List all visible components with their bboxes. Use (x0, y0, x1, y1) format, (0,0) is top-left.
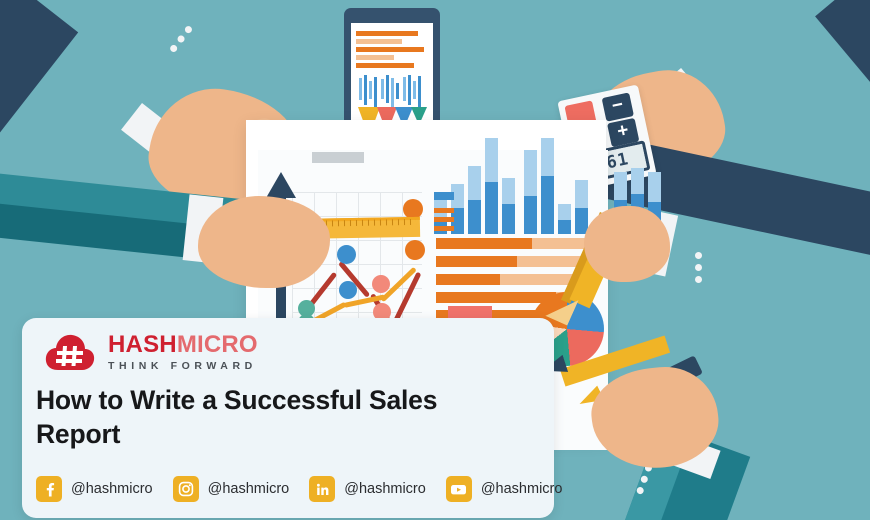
bar-3 (468, 166, 481, 234)
tablet-bar-2 (356, 39, 402, 44)
legend-swatch-orange-3 (434, 226, 454, 231)
banner-card: HASHMICRO THINK FORWARD How to Write a S… (22, 318, 554, 518)
line-marker-orange-2 (405, 240, 425, 260)
youtube-icon[interactable] (446, 476, 472, 502)
facebook-icon[interactable] (36, 476, 62, 502)
line-marker-blue-1 (337, 245, 356, 264)
tablet-bar-5 (356, 63, 414, 68)
bar-7 (541, 138, 554, 234)
cloud-hash-icon (44, 332, 96, 372)
logo-wordmark: HASHMICRO THINK FORWARD (108, 333, 258, 372)
vertical-stacked-bar-chart (434, 136, 584, 234)
tablet-candle-6 (386, 75, 389, 103)
logo-brand-micro: MICRO (177, 331, 258, 358)
tablet-candle-4 (374, 77, 377, 111)
social-item-instagram[interactable]: @hashmicro (173, 476, 290, 502)
linkedin-handle: @hashmicro (344, 481, 426, 497)
tablet-screen (351, 23, 433, 135)
line-marker-salmon-1 (372, 275, 390, 293)
tablet-candle-2 (364, 75, 367, 105)
legend-swatch-orange-2 (434, 217, 454, 222)
hashmicro-logo[interactable]: HASHMICRO THINK FORWARD (44, 332, 258, 372)
hand-left-with-ruler (198, 196, 330, 288)
tablet-bar-1 (356, 31, 418, 36)
tablet-candle-1 (359, 78, 362, 100)
tablet-candle-3 (369, 81, 372, 99)
bar-6 (524, 150, 537, 234)
bar-8 (558, 204, 571, 234)
logo-tagline: THINK FORWARD (108, 361, 258, 372)
legend-swatch-blue (434, 192, 454, 200)
facebook-handle: @hashmicro (71, 481, 153, 497)
logo-brand-hash: HASH (108, 331, 177, 358)
tablet-candle-9 (403, 77, 406, 101)
tablet-candle-12 (418, 76, 421, 108)
cover-image: − × + 561 (0, 0, 870, 520)
social-item-youtube[interactable]: @hashmicro (446, 476, 563, 502)
bar-5 (502, 178, 515, 234)
paper-header-band (312, 152, 364, 163)
calculator-key-minus: − (602, 92, 634, 121)
line-marker-blue-2 (339, 281, 357, 299)
progress-bar-3 (436, 274, 588, 285)
progress-bar-2 (436, 256, 588, 267)
tablet-bar-3 (356, 47, 424, 52)
page-title: How to Write a Successful Sales Report (36, 384, 506, 452)
bar-4 (485, 138, 498, 234)
linkedin-icon[interactable] (309, 476, 335, 502)
tablet-candle-5 (381, 79, 384, 99)
tablet-candle-11 (413, 81, 416, 99)
instagram-icon[interactable] (173, 476, 199, 502)
tablet-candle-8 (396, 83, 399, 99)
cufflink-dots-right (695, 252, 702, 288)
progress-bar-1 (436, 238, 588, 249)
tablet-candle-10 (408, 75, 411, 105)
social-handles-row: @hashmicro @hashmicro (36, 476, 582, 502)
hand-right-with-pencil (584, 206, 670, 282)
social-item-linkedin[interactable]: @hashmicro (309, 476, 426, 502)
cufflink-dots-top-left (166, 25, 194, 58)
youtube-handle: @hashmicro (481, 481, 563, 497)
logo-brand-name: HASHMICRO (108, 333, 258, 357)
social-item-facebook[interactable]: @hashmicro (36, 476, 153, 502)
instagram-handle: @hashmicro (208, 481, 290, 497)
tablet-bar-4 (356, 55, 394, 60)
legend-swatch-orange-1 (434, 208, 454, 213)
bar-9 (575, 180, 588, 234)
